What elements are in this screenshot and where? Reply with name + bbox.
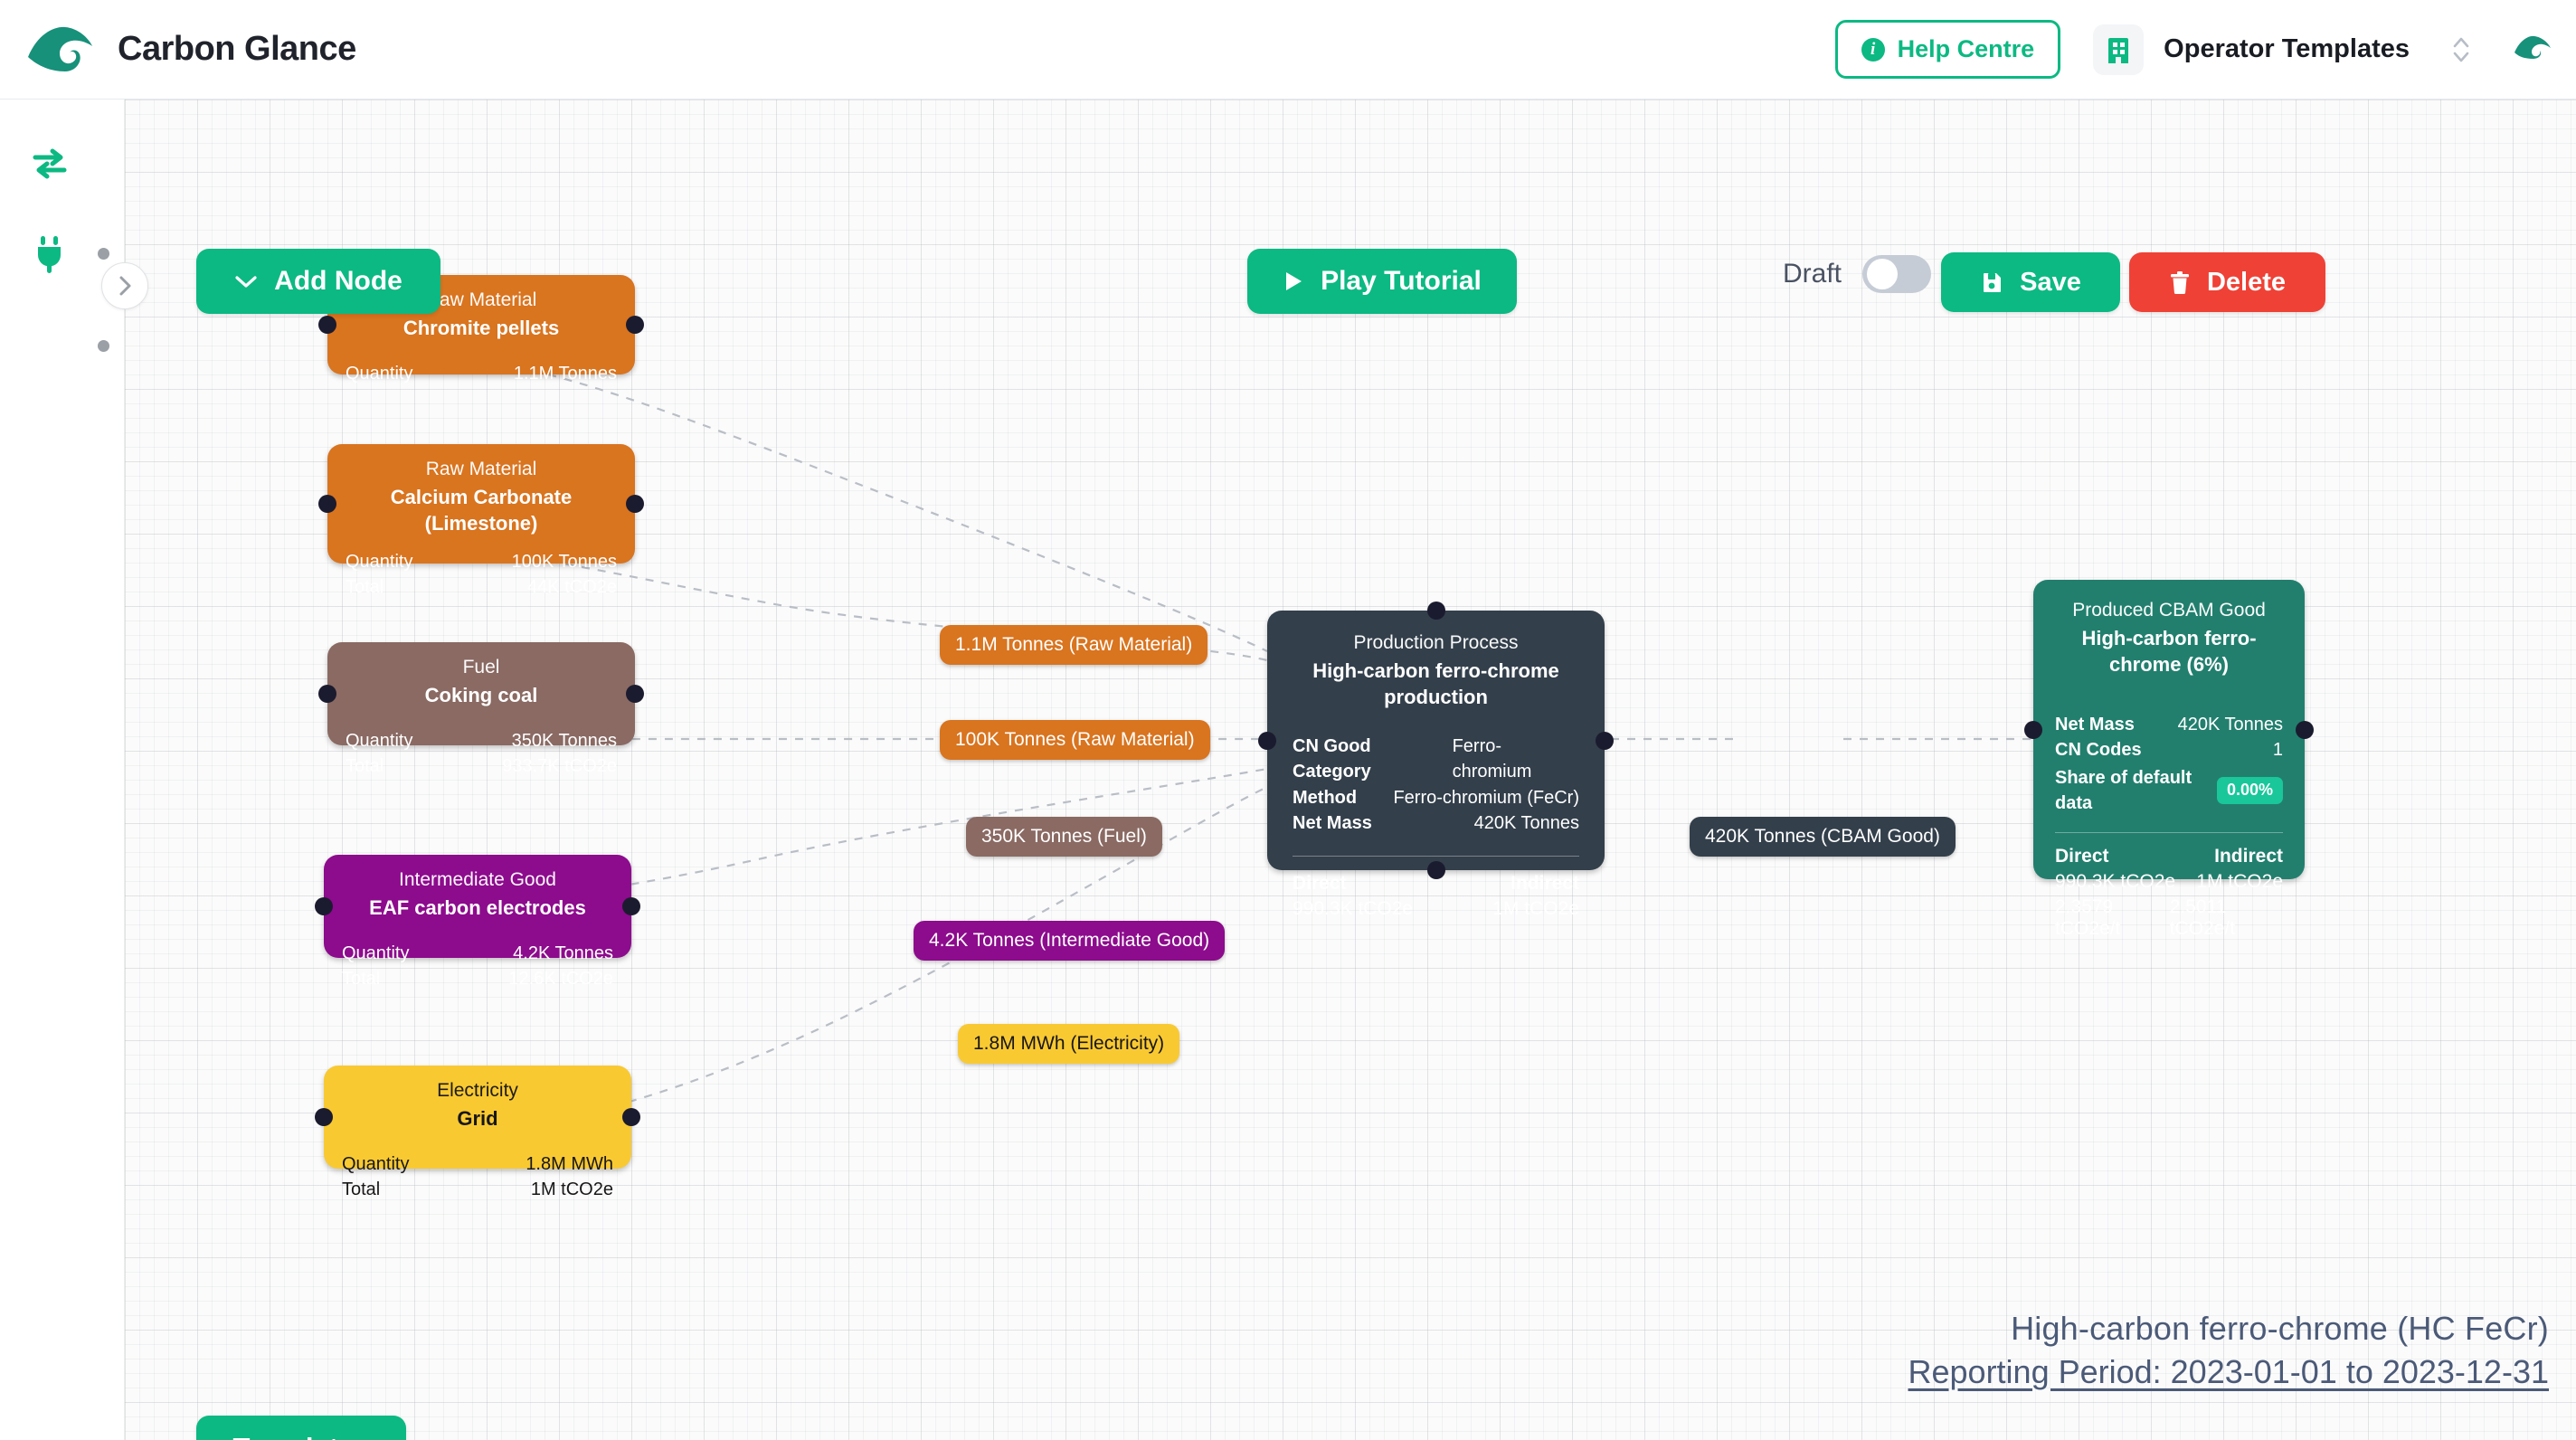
profile-eye-icon[interactable] — [2513, 33, 2552, 66]
node-rows: Quantity 350K Tonnes Total 933.7K tCO2e — [346, 728, 617, 780]
eye-logo-icon — [25, 24, 94, 75]
row-value: 4.2K Tonnes — [513, 941, 613, 966]
node-row: Share of default data 0.00% — [2055, 765, 2283, 817]
node-handle-left[interactable] — [1258, 732, 1276, 750]
row-key: Total — [342, 966, 380, 991]
edge-label-fuel[interactable]: 350K Tonnes (Fuel) — [966, 817, 1162, 857]
node-divider — [2055, 832, 2283, 833]
node-rows: Quantity 1.8M MWh Total 1M tCO2e — [342, 1151, 613, 1203]
node-name: Coking coal — [346, 682, 617, 708]
play-tutorial-label: Play Tutorial — [1321, 266, 1482, 297]
row-value: 100K Tonnes — [512, 549, 617, 574]
delete-button[interactable]: Delete — [2129, 252, 2325, 312]
row-value: 350K Tonnes — [512, 728, 617, 753]
play-icon — [1283, 270, 1304, 293]
sidebar-item-transfers[interactable] — [25, 139, 74, 188]
direct-label: Direct — [1293, 873, 1347, 895]
trash-icon — [2169, 270, 2191, 295]
node-row: Method Ferro-chromium (FeCr) — [1293, 785, 1579, 810]
toggle-knob — [1867, 259, 1898, 289]
node-name: EAF carbon electrodes — [342, 895, 613, 921]
edge-label-raw-material-2[interactable]: 100K Tonnes (Raw Material) — [940, 720, 1210, 760]
node-name: High-carbon ferro-chrome production — [1293, 658, 1579, 710]
add-node-label: Add Node — [274, 266, 402, 297]
node-handle-right[interactable] — [622, 1108, 640, 1126]
row-key: CN Good Category — [1293, 734, 1453, 785]
direct-intensity: 2.3579 tCO2e/t — [2055, 896, 2170, 940]
node-kind: Produced CBAM Good — [2055, 598, 2283, 623]
emissions-values: 990.3K tCO2e 1M tCO2e — [2055, 871, 2283, 893]
node-row: Net Mass 420K Tonnes — [2055, 712, 2283, 737]
building-icon — [2093, 24, 2144, 75]
row-key: Quantity — [342, 1151, 409, 1177]
node-produced-cbam-good[interactable]: Produced CBAM Good High-carbon ferro-chr… — [2033, 580, 2305, 879]
rail-status-dot-2 — [98, 340, 109, 352]
help-centre-button[interactable]: i Help Centre — [1835, 20, 2061, 79]
draft-label: Draft — [1783, 259, 1842, 289]
footer-caption: High-carbon ferro-chrome (HC FeCr) Repor… — [1908, 1310, 2550, 1391]
node-name: High-carbon ferro-chrome (6%) — [2055, 625, 2283, 677]
node-handle-right[interactable] — [626, 685, 644, 703]
brand-title: Carbon Glance — [118, 30, 356, 69]
row-value: 1 — [2273, 737, 2283, 763]
row-key: Total — [346, 753, 384, 779]
row-value: Ferro-chromium — [1453, 734, 1579, 785]
node-handle-left[interactable] — [318, 685, 336, 703]
row-key: Quantity — [346, 728, 412, 753]
chevron-down-icon — [234, 274, 258, 289]
node-divider — [1293, 856, 1579, 857]
emissions-intensities: 2.3579 tCO2e/t 2.5011 tCO2e/t — [2055, 896, 2283, 940]
node-name: Calcium Carbonate (Limestone) — [346, 484, 617, 536]
node-row: Net Mass 420K Tonnes — [1293, 810, 1579, 836]
row-value: 420K Tonnes — [1474, 810, 1579, 836]
node-rows: Quantity 100K Tonnes Total 44K tCO2e — [346, 549, 617, 601]
node-production-process[interactable]: Production Process High-carbon ferro-chr… — [1267, 611, 1605, 870]
edge-label-raw-material-1[interactable]: 1.1M Tonnes (Raw Material) — [940, 625, 1207, 665]
node-row: Total 933.7K tCO2e — [346, 753, 617, 779]
node-kind: Fuel — [346, 655, 617, 680]
node-row: Quantity 100K Tonnes — [346, 549, 617, 574]
organisation-name: Operator Templates — [2164, 34, 2410, 64]
row-value: 44K tCO2e — [527, 574, 617, 600]
draft-final-toggle[interactable] — [1862, 255, 1931, 293]
rail-status-dot-1 — [98, 248, 109, 260]
node-handle-right[interactable] — [626, 316, 644, 334]
node-kind: Production Process — [1293, 630, 1579, 656]
node-row: Total 1M tCO2e — [342, 1177, 613, 1202]
add-node-button[interactable]: Add Node — [196, 249, 440, 314]
node-handle-right[interactable] — [1596, 732, 1614, 750]
node-handle-left[interactable] — [315, 897, 333, 915]
expand-panel-button[interactable] — [101, 262, 148, 309]
node-handle-left[interactable] — [318, 495, 336, 513]
node-row: Quantity 1.1M Tonnes — [346, 361, 617, 386]
plug-icon — [33, 235, 67, 275]
row-key: Share of default data — [2055, 765, 2217, 817]
node-rows: Quantity 1.1M Tonnes — [346, 361, 617, 386]
transfer-arrows-icon — [31, 146, 69, 182]
indirect-value: 1M tCO2e — [2196, 871, 2283, 893]
node-handle-bottom[interactable] — [1427, 861, 1445, 879]
node-row: Total 12.6K tCO2e — [342, 966, 613, 991]
row-value: 933.7K tCO2e — [502, 753, 617, 779]
row-value: Ferro-chromium (FeCr) — [1393, 785, 1579, 810]
node-calcium-carbonate[interactable]: Raw Material Calcium Carbonate (Limeston… — [327, 444, 635, 564]
direct-label: Direct — [2055, 846, 2109, 867]
direct-value: 990.3K tCO2e — [1293, 898, 1413, 920]
direct-value: 990.3K tCO2e — [2055, 871, 2175, 893]
top-bar: Carbon Glance i Help Centre Operator Tem… — [0, 0, 2576, 99]
top-bar-actions: i Help Centre Operator Templates — [1835, 20, 2576, 79]
row-value: 1.1M Tonnes — [514, 361, 617, 386]
node-coking-coal[interactable]: Fuel Coking coal Quantity 350K Tonnes To… — [327, 642, 635, 745]
chevron-right-icon — [114, 273, 136, 298]
node-kind: Raw Material — [346, 457, 617, 482]
node-handle-left[interactable] — [2024, 721, 2042, 739]
flow-canvas[interactable]: Raw Material Chromite pellets Quantity 1… — [125, 99, 2576, 1440]
indirect-label: Indirect — [2214, 846, 2283, 867]
chevron-up-down-icon[interactable] — [2449, 33, 2473, 67]
node-row: Quantity 4.2K Tonnes — [342, 941, 613, 966]
organisation-selector[interactable]: Operator Templates — [2093, 24, 2410, 75]
node-rows: Net Mass 420K Tonnes CN Codes 1 Share of… — [2055, 712, 2283, 817]
indirect-intensity: 2.5011 tCO2e/t — [2170, 896, 2283, 940]
page-title: High-carbon ferro-chrome (HC FeCr) — [1908, 1310, 2550, 1348]
templates-label: Templates — [232, 1432, 369, 1440]
row-key: Total — [342, 1177, 380, 1202]
edge-label-electricity[interactable]: 1.8M MWh (Electricity) — [958, 1024, 1179, 1064]
node-row: CN Good Category Ferro-chromium — [1293, 734, 1579, 785]
node-handle-top[interactable] — [1427, 602, 1445, 620]
row-key: Net Mass — [2055, 712, 2135, 737]
node-row: Quantity 1.8M MWh — [342, 1151, 613, 1177]
templates-button[interactable]: Templates — [196, 1416, 406, 1440]
node-row: CN Codes 1 — [2055, 737, 2283, 763]
save-label: Save — [2020, 268, 2081, 298]
node-rows: Quantity 4.2K Tonnes Total 12.6K tCO2e — [342, 941, 613, 992]
save-button[interactable]: Save — [1941, 252, 2120, 312]
node-name: Chromite pellets — [346, 315, 617, 341]
status-badge: 0.00% — [2217, 777, 2283, 804]
row-value: 12.6K tCO2e — [508, 966, 613, 991]
row-value: 420K Tonnes — [2178, 712, 2283, 737]
sidebar-item-connections[interactable] — [25, 231, 74, 279]
help-centre-label: Help Centre — [1898, 35, 2035, 63]
node-handle-left[interactable] — [318, 316, 336, 334]
row-key: Quantity — [346, 549, 412, 574]
row-key: Quantity — [342, 941, 409, 966]
emissions-values: 990.3K tCO2e 1M tCO2e — [1293, 898, 1579, 920]
row-key: Method — [1293, 785, 1357, 810]
delete-label: Delete — [2207, 268, 2286, 298]
row-key: Quantity — [346, 361, 412, 386]
node-kind: Intermediate Good — [342, 867, 613, 893]
node-electricity-grid[interactable]: Electricity Grid Quantity 1.8M MWh Total… — [324, 1066, 631, 1169]
brand[interactable]: Carbon Glance — [25, 24, 356, 75]
row-value: 1.8M MWh — [526, 1151, 613, 1177]
indirect-label: Indirect — [1511, 873, 1579, 895]
info-icon: i — [1861, 38, 1885, 62]
row-value: 1M tCO2e — [531, 1177, 613, 1202]
node-handle-right[interactable] — [626, 495, 644, 513]
node-handle-right[interactable] — [2296, 721, 2314, 739]
node-rows: CN Good Category Ferro-chromium Method F… — [1293, 734, 1579, 837]
edge-label-intermediate[interactable]: 4.2K Tonnes (Intermediate Good) — [914, 921, 1225, 961]
node-eaf-carbon-electrodes[interactable]: Intermediate Good EAF carbon electrodes … — [324, 855, 631, 958]
node-row: Quantity 350K Tonnes — [346, 728, 617, 753]
row-key: Net Mass — [1293, 810, 1372, 836]
reporting-period-link[interactable]: Reporting Period: 2023-01-01 to 2023-12-… — [1908, 1353, 2550, 1391]
node-kind: Electricity — [342, 1078, 613, 1104]
edge-label-cbam-good[interactable]: 420K Tonnes (CBAM Good) — [1690, 817, 1956, 857]
row-key: CN Codes — [2055, 737, 2142, 763]
row-key: Total — [346, 574, 384, 600]
node-row: Total 44K tCO2e — [346, 574, 617, 600]
emissions-headers: Direct Indirect — [2055, 846, 2283, 867]
play-tutorial-button[interactable]: Play Tutorial — [1247, 249, 1517, 314]
node-handle-right[interactable] — [622, 897, 640, 915]
floppy-disk-icon — [1980, 270, 2003, 294]
indirect-value: 1M tCO2e — [1492, 898, 1579, 920]
node-handle-left[interactable] — [315, 1108, 333, 1126]
node-name: Grid — [342, 1105, 613, 1132]
